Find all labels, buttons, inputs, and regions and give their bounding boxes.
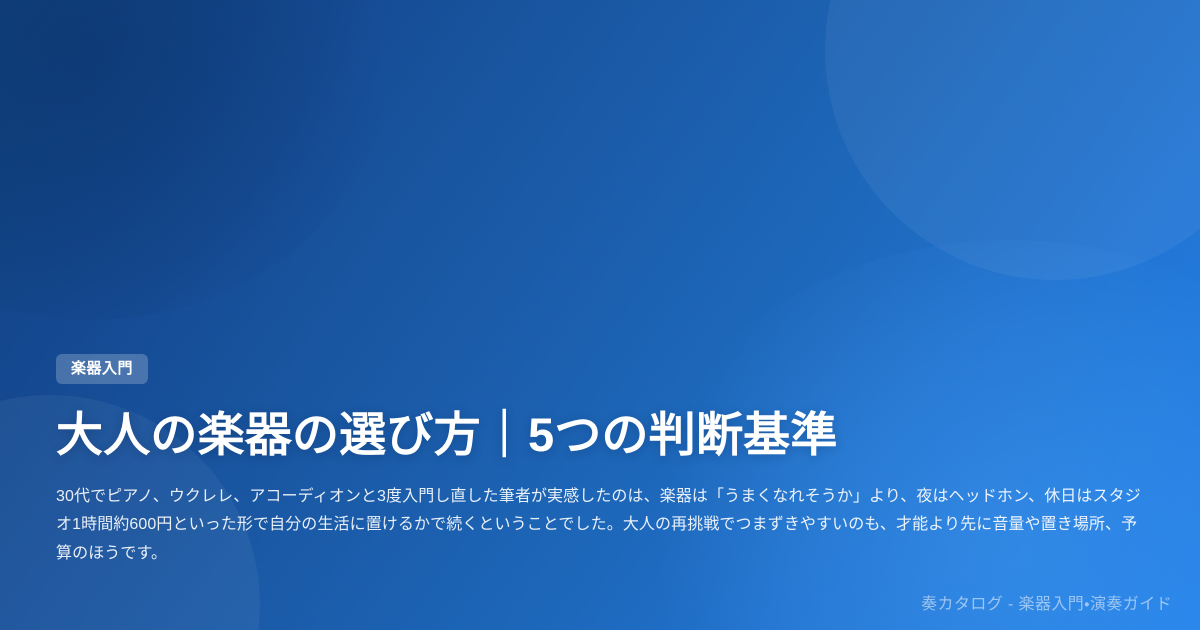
- site-name-footer: 奏カタログ - 楽器入門・演奏ガイド: [921, 594, 1172, 616]
- category-badge: 楽器入門: [56, 354, 148, 384]
- og-share-card: 楽器入門 大人の楽器の選び方｜5つの判断基準 30代でピアノ、ウクレレ、アコーデ…: [0, 0, 1200, 630]
- page-description: 30代でピアノ、ウクレレ、アコーディオンと3度入門し直した筆者が実感したのは、楽…: [56, 483, 1144, 568]
- card-content: 楽器入門 大人の楽器の選び方｜5つの判断基準 30代でピアノ、ウクレレ、アコーデ…: [56, 0, 1144, 630]
- page-title: 大人の楽器の選び方｜5つの判断基準: [56, 406, 1096, 463]
